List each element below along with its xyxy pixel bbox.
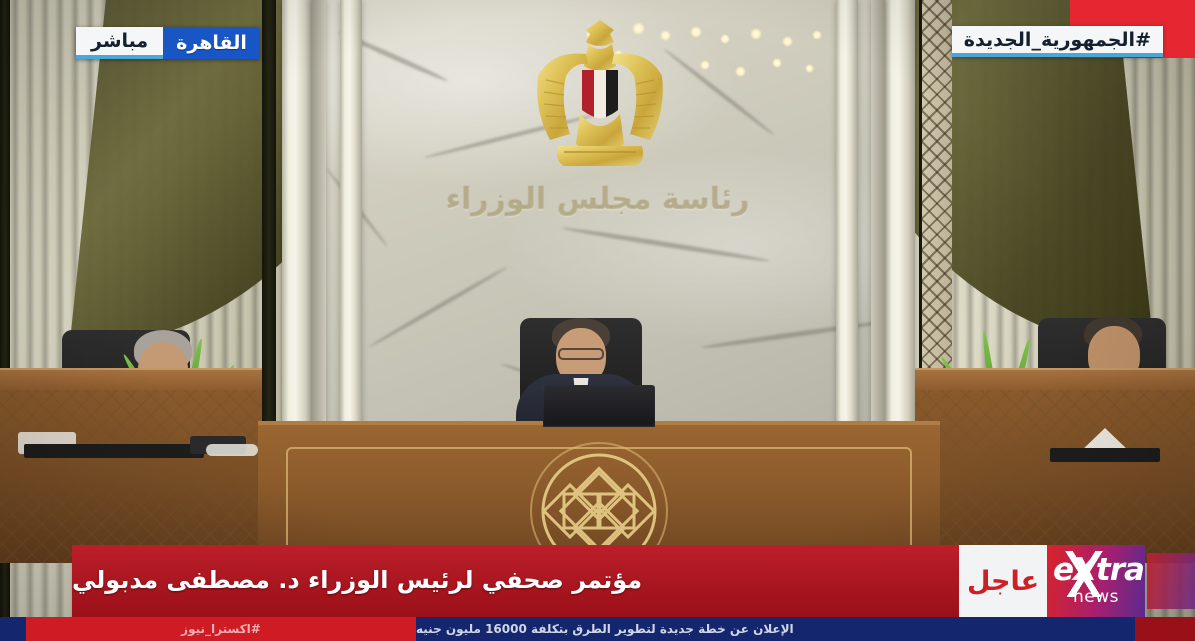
pilaster-inner-left <box>340 0 362 448</box>
ticker-navy-text: الإعلان عن خطة جديدة لتطوير الطرق بتكلفة… <box>416 622 794 636</box>
venue-inscription: رئاسة مجلس الوزراء <box>0 182 1195 217</box>
location-bug: القاهرة مباشر <box>76 27 260 59</box>
desk-right <box>915 383 1195 563</box>
glassware-left <box>206 444 258 456</box>
string-light <box>735 66 746 77</box>
pilaster-left <box>282 0 312 448</box>
name-plate-right <box>1050 448 1160 462</box>
desk-left <box>0 383 262 563</box>
logo-news-text: news <box>1073 587 1119 607</box>
news-ticker: #اكسترا_نيوز الإعلان عن خطة جديدة لتطوير… <box>0 617 1195 641</box>
string-light <box>772 58 782 68</box>
pilaster-right <box>885 0 915 448</box>
channel-logo: eXtra news <box>1047 545 1145 617</box>
ticker-cap-left <box>0 617 26 641</box>
city-label: القاهرة <box>163 27 260 59</box>
ticker-red-segment: #اكسترا_نيوز <box>26 617 416 641</box>
name-plate-left <box>24 444 204 458</box>
headline-text: مؤتمر صحفي لرئيس الوزراء د. مصطفى مدبولي <box>72 566 642 594</box>
string-light <box>812 30 822 40</box>
string-light <box>700 60 710 70</box>
string-light <box>805 64 814 73</box>
headline-banner: مؤتمر صحفي لرئيس الوزراء د. مصطفى مدبولي <box>72 545 960 617</box>
live-label: مباشر <box>76 27 163 59</box>
string-light <box>690 26 702 38</box>
string-light <box>720 34 730 44</box>
urgent-badge: عاجل <box>959 545 1047 617</box>
pilaster-right-reveal <box>871 0 885 448</box>
ticker-red-text: #اكسترا_نيوز <box>181 622 261 636</box>
hashtag-label: #الجمهورية_الجديدة <box>952 26 1163 57</box>
string-light <box>782 36 793 47</box>
eyeglasses-icon <box>558 348 604 360</box>
eagle-of-saladin-icon <box>524 14 676 176</box>
string-light <box>750 28 762 40</box>
pilaster-left-reveal <box>312 0 326 448</box>
urgent-label: عاجل <box>967 566 1039 597</box>
lower-third: مؤتمر صحفي لرئيس الوزراء د. مصطفى مدبولي… <box>72 545 1195 617</box>
podium-monitor <box>543 385 655 427</box>
channel-logo-edge <box>1147 553 1195 609</box>
broadcast-screen: رئاسة مجلس الوزراء <box>0 0 1195 641</box>
ticker-navy-segment: الإعلان عن خطة جديدة لتطوير الطرق بتكلفة… <box>416 617 1135 641</box>
ticker-edge-right <box>1135 617 1195 641</box>
pilaster-inner-right <box>836 0 858 448</box>
